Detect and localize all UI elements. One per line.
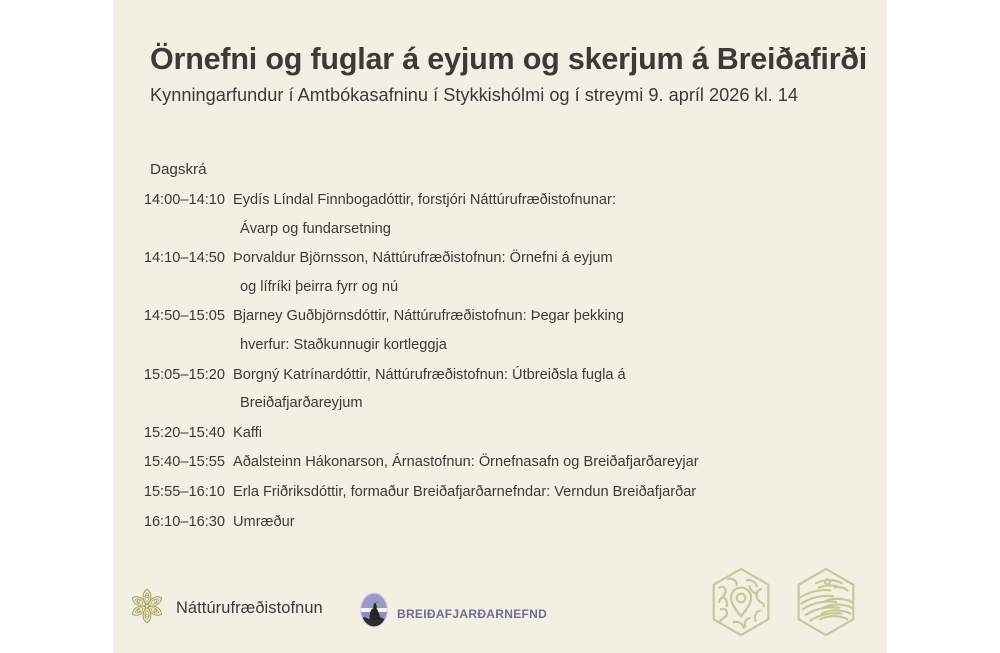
agenda-item-time: 16:10–16:30 xyxy=(113,508,225,537)
agenda-item-description: Erla Friðriksdóttir, formaður Breiðafjar… xyxy=(225,478,887,507)
agenda-item: 15:05–15:20 Borgný Katrínardóttir, Náttú… xyxy=(113,361,887,418)
slide-panel: Örnefni og fuglar á eyjum og skerjum á B… xyxy=(113,0,887,653)
agenda-item-description: Aðalsteinn Hákonarson, Árnastofnun: Örne… xyxy=(225,448,887,477)
hands-hex-badge xyxy=(790,566,862,638)
agenda-item-line2: og lífríki þeirra fyrr og nú xyxy=(233,273,887,302)
agenda-item-time: 14:10–14:50 xyxy=(113,244,225,273)
agenda-item-time: 15:05–15:20 xyxy=(113,361,225,390)
agenda-item-line2: hverfur: Staðkunnugir kortleggja xyxy=(233,331,887,360)
agenda-item-line1: Umræður xyxy=(233,514,295,530)
rosette-icon xyxy=(127,586,167,631)
agenda-item: 14:50–15:05 Bjarney Guðbjörnsdóttir, Nát… xyxy=(113,302,887,359)
agenda-item-line1: Eydís Líndal Finnbogadóttir, forstjóri N… xyxy=(233,192,616,208)
logo-natturufraedistofnun-label: Náttúrufræðistofnun xyxy=(176,599,323,618)
agenda-item-time: 15:20–15:40 xyxy=(113,419,225,448)
logo-natturufraedistofnun: Náttúrufræðistofnun xyxy=(127,586,323,631)
map-pin-contour-icon xyxy=(705,566,777,638)
agenda-item-description: Bjarney Guðbjörnsdóttir, Náttúrufræðisto… xyxy=(225,302,887,359)
agenda-item-line1: Þorvaldur Björnsson, Náttúrufræðistofnun… xyxy=(233,250,613,266)
hands-contour-icon xyxy=(790,566,862,638)
agenda-item: 16:10–16:30 Umræður xyxy=(113,508,887,537)
logo-breidafjardarnefnd-label: Breiðafjarðarnefnd xyxy=(397,603,547,623)
agenda-item-description: Umræður xyxy=(225,508,887,537)
agenda-item-time: 14:00–14:10 xyxy=(113,186,225,215)
agenda-item-description: Borgný Katrínardóttir, Náttúrufræðistofn… xyxy=(225,361,887,418)
cormorant-oval-icon xyxy=(358,591,390,634)
slide-subtitle: Kynningarfundur í Amtbókasafninu í Stykk… xyxy=(150,84,890,108)
agenda-item: 15:20–15:40 Kaffi xyxy=(113,419,887,448)
agenda-item: 15:55–16:10 Erla Friðriksdóttir, formaðu… xyxy=(113,478,887,507)
agenda-item-line2: Ávarp og fundarsetning xyxy=(233,215,887,244)
agenda-item-time: 14:50–15:05 xyxy=(113,302,225,331)
agenda-item-line2: Breiðafjarðareyjum xyxy=(233,389,887,418)
agenda-item-description: Kaffi xyxy=(225,419,887,448)
agenda-item-line1: Borgný Katrínardóttir, Náttúrufræðistofn… xyxy=(233,367,626,383)
agenda-item-line1: Kaffi xyxy=(233,425,262,441)
agenda-item-line1: Aðalsteinn Hákonarson, Árnastofnun: Örne… xyxy=(233,454,699,470)
page-title: Örnefni og fuglar á eyjum og skerjum á B… xyxy=(150,40,870,78)
agenda-item-line1: Bjarney Guðbjörnsdóttir, Náttúrufræðisto… xyxy=(233,308,624,324)
agenda-item: 15:40–15:55 Aðalsteinn Hákonarson, Árnas… xyxy=(113,448,887,477)
agenda-item: 14:10–14:50 Þorvaldur Björnsson, Náttúru… xyxy=(113,244,887,301)
agenda-item-description: Þorvaldur Björnsson, Náttúrufræðistofnun… xyxy=(225,244,887,301)
agenda-item-line1: Erla Friðriksdóttir, formaður Breiðafjar… xyxy=(233,484,696,500)
agenda-list: 14:00–14:10 Eydís Líndal Finnbogadóttir,… xyxy=(113,186,887,537)
agenda-item-time: 15:55–16:10 xyxy=(113,478,225,507)
agenda-item-description: Eydís Líndal Finnbogadóttir, forstjóri N… xyxy=(225,186,887,243)
logo-breidafjardarnefnd: Breiðafjarðarnefnd xyxy=(358,591,547,634)
agenda-heading: Dagskrá xyxy=(150,161,207,178)
slide-root: Örnefni og fuglar á eyjum og skerjum á B… xyxy=(0,0,1000,653)
agenda-item: 14:00–14:10 Eydís Líndal Finnbogadóttir,… xyxy=(113,186,887,243)
map-pin-hex-badge xyxy=(705,566,777,638)
agenda-item-time: 15:40–15:55 xyxy=(113,448,225,477)
